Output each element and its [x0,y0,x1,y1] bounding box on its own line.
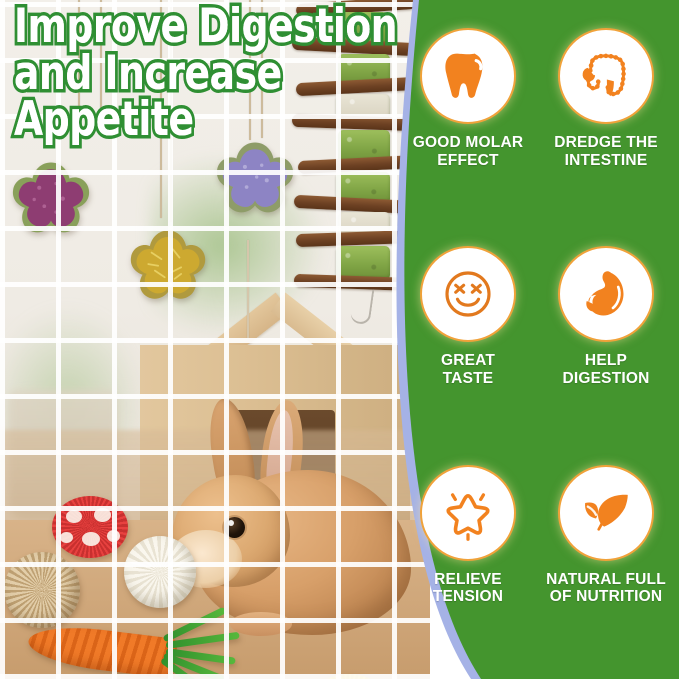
benefits-grid: GOOD MOLAR EFFECT [399,0,679,679]
benefit-icon-circle [420,465,516,561]
benefit-natural-full-of-nutrition: NATURAL FULL OF NUTRITION [537,451,675,669]
star-sparkle-icon [439,484,497,542]
benefit-label: RELIEVE TENSION [433,571,503,607]
benefit-relieve-tension: RELIEVE TENSION [399,451,537,669]
flower-treat-lavender [212,140,298,224]
benefit-dredge-the-intestine: DREDGE THE INTESTINE [537,14,675,232]
benefit-label: HELP DIGESTION [562,352,649,388]
benefit-great-taste: GREAT TASTE [399,232,537,450]
tooth-icon [439,47,497,105]
benefit-icon-circle [558,28,654,124]
benefit-help-digestion: HELP DIGESTION [537,232,675,450]
smiley-face-icon [440,266,496,322]
intestine-icon [578,48,634,104]
product-infographic: GOOD MOLAR EFFECT [0,0,679,679]
rabbit-eye [224,517,245,538]
flower-treat-yellow [126,228,210,310]
hanging-string [247,240,249,338]
benefit-label: DREDGE THE INTESTINE [554,134,658,170]
carrot-toy [28,616,228,676]
page-title-outline: Improve Digestion and Increase Appetite [14,4,438,144]
benefit-icon-circle [558,246,654,342]
stomach-icon [578,266,634,322]
woven-ball-white [124,536,196,608]
benefit-icon-circle [420,246,516,342]
leaf-icon [577,484,635,542]
benefit-icon-circle [558,465,654,561]
rabbit-foot [230,612,292,636]
loofah-slice-red [52,496,128,558]
flower-treat-purple [8,160,94,244]
benefit-label: GREAT TASTE [441,352,495,388]
benefit-label: NATURAL FULL OF NUTRITION [546,571,666,607]
